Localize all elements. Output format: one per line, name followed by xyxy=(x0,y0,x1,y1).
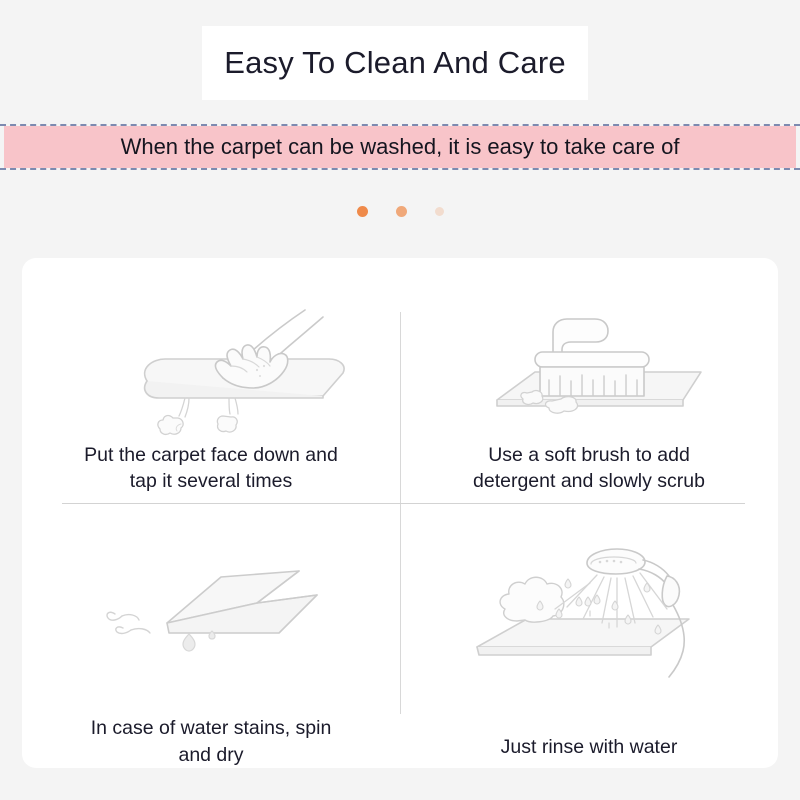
panel-caption: Just rinse with water xyxy=(487,734,692,760)
shower-head-rinsing-carpet-icon xyxy=(400,527,778,692)
panel-brush-detergent: Use a soft brush to add detergent and sl… xyxy=(400,258,778,503)
carousel-dot-3[interactable] xyxy=(435,207,444,216)
subtitle-banner: When the carpet can be washed, it is eas… xyxy=(0,124,800,170)
panel-spin-dry: In case of water stains, spin and dry xyxy=(22,503,400,768)
scrub-brush-on-carpet-icon xyxy=(400,288,778,436)
subtitle-band-fill: When the carpet can be washed, it is eas… xyxy=(4,126,796,168)
panel-tap-carpet: Put the carpet face down and tap it seve… xyxy=(22,258,400,503)
page-title: Easy To Clean And Care xyxy=(202,26,588,100)
carousel-dots-indicator xyxy=(0,203,800,219)
folded-carpet-drying-icon xyxy=(22,541,400,691)
hand-tapping-carpet-icon xyxy=(22,286,400,436)
subtitle-text: When the carpet can be washed, it is eas… xyxy=(4,126,796,168)
care-steps-grid: Put the carpet face down and tap it seve… xyxy=(22,258,778,768)
subtitle-dashed-border-bottom xyxy=(0,168,800,170)
panel-caption: Put the carpet face down and tap it seve… xyxy=(70,442,352,495)
care-instructions-card: Put the carpet face down and tap it seve… xyxy=(22,258,778,768)
panel-caption: In case of water stains, spin and dry xyxy=(77,715,346,768)
carousel-dot-2[interactable] xyxy=(396,206,407,217)
panel-rinse-water: Just rinse with water xyxy=(400,503,778,768)
title-band: Easy To Clean And Care xyxy=(202,26,588,100)
panel-caption: Use a soft brush to add detergent and sl… xyxy=(459,442,719,495)
carousel-dot-1[interactable] xyxy=(357,206,368,217)
